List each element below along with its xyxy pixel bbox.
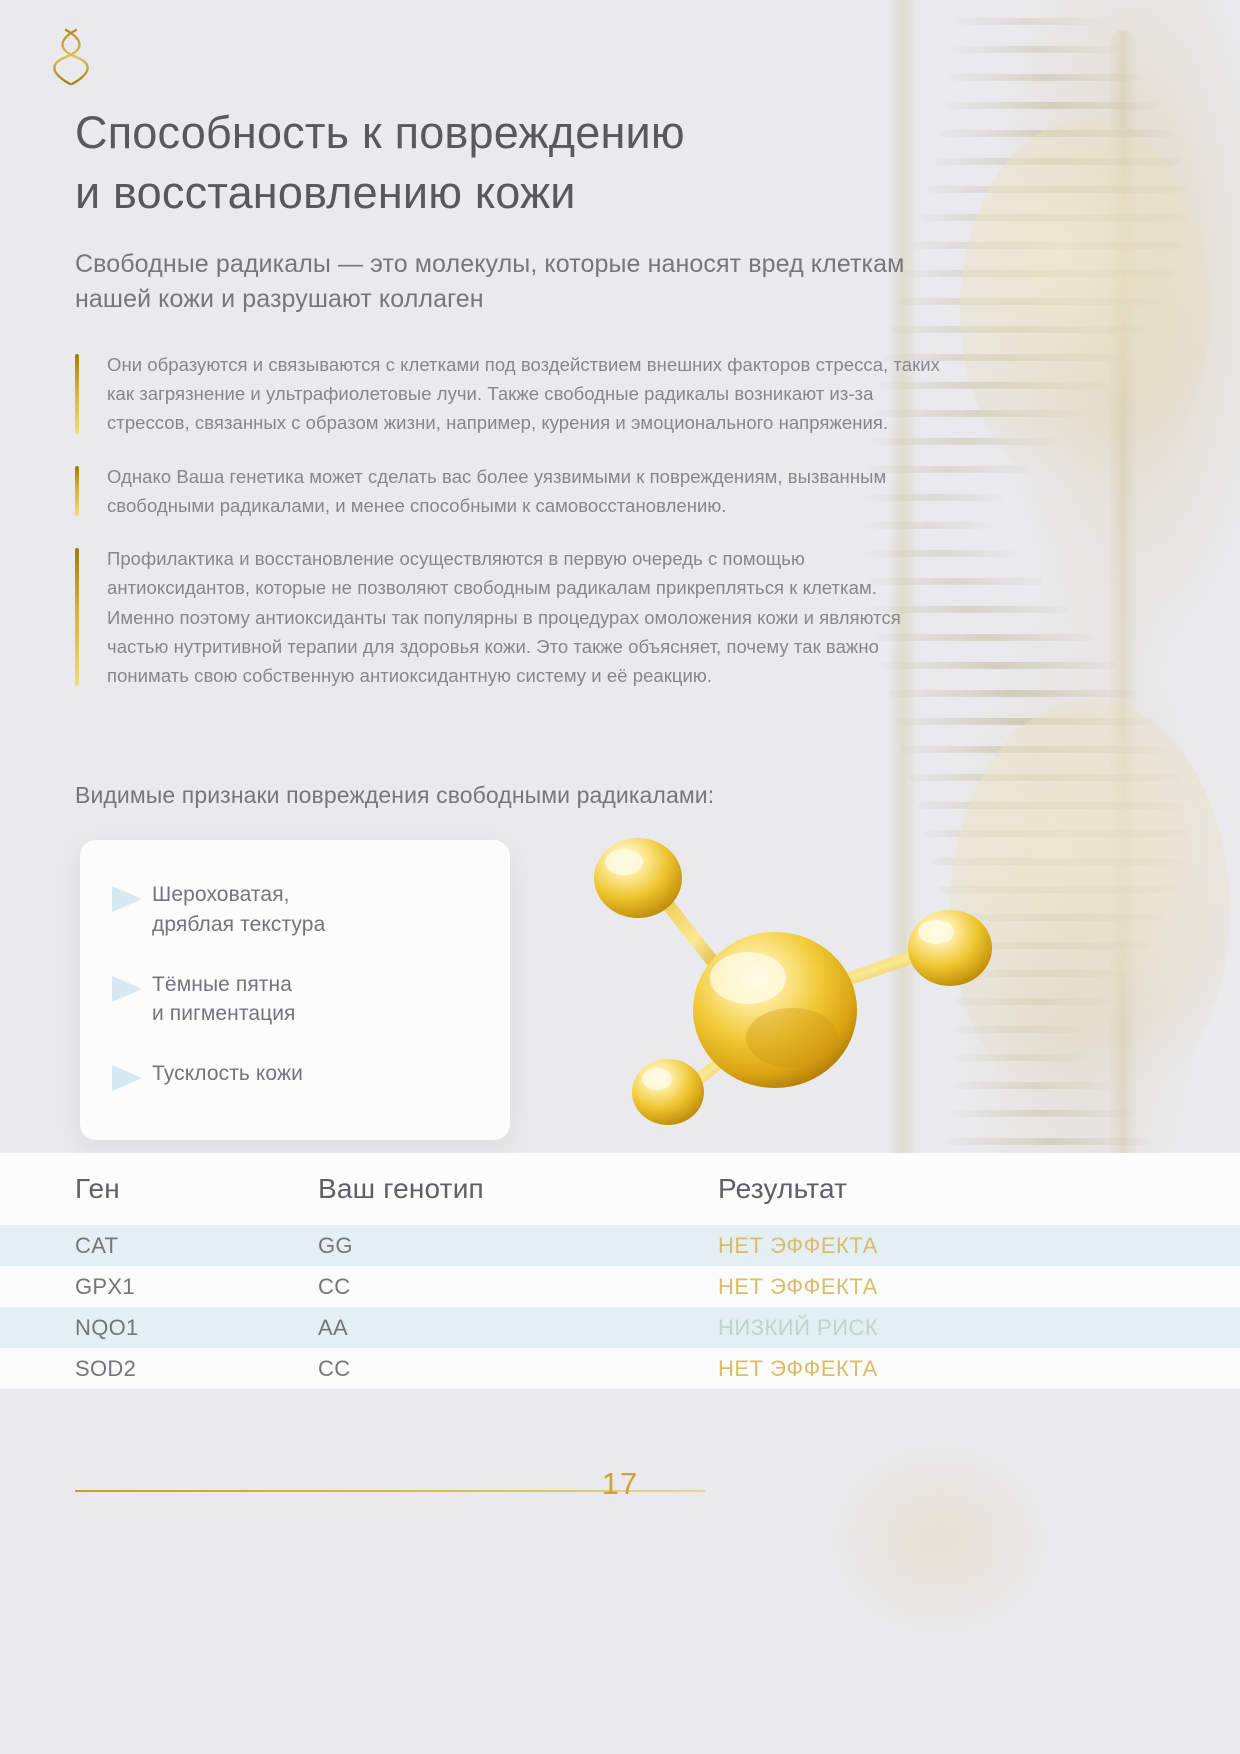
- page-number: 17: [0, 1466, 1240, 1502]
- page-subtitle: Свободные радикалы — это молекулы, котор…: [75, 247, 955, 317]
- report-page: Способность к повреждениюи восстановлени…: [0, 0, 1240, 1754]
- signs-heading: Видимые признаки повреждения свободными …: [75, 782, 975, 809]
- column-header-genotype: Ваш генотип: [318, 1173, 718, 1205]
- table-row: CATGGНЕТ ЭФФЕКТА: [0, 1225, 1240, 1266]
- paragraph-list: Они образуются и связываются с клетками …: [75, 350, 940, 714]
- paragraph-text: Однако Ваша генетика может сделать вас б…: [107, 462, 940, 520]
- list-item: Тёмные пятнаи пигментация: [110, 970, 480, 1030]
- cell-result: НЕТ ЭФФЕКТА: [718, 1356, 1240, 1382]
- triangle-right-icon: [110, 884, 152, 914]
- dna-rung: [909, 774, 1179, 781]
- gold-accent-bar: [75, 354, 79, 434]
- dna-rung: [952, 46, 1121, 53]
- paragraph-block: Однако Ваша генетика может сделать вас б…: [75, 462, 940, 520]
- dna-rung: [949, 74, 1141, 81]
- gold-accent-bar: [75, 548, 79, 686]
- cell-gene: NQO1: [0, 1315, 318, 1341]
- dna-rung: [940, 130, 1171, 137]
- sign-label: Тусклость кожи: [152, 1059, 303, 1089]
- cell-genotype: CC: [318, 1274, 718, 1300]
- column-header-result: Результат: [718, 1173, 1240, 1205]
- cell-gene: CAT: [0, 1233, 318, 1259]
- dna-edge: [1110, 30, 1136, 1290]
- dna-rung: [920, 214, 1186, 221]
- triangle-right-icon: [110, 1063, 152, 1093]
- table-row: SOD2CCНЕТ ЭФФЕКТА: [0, 1348, 1240, 1389]
- dna-rung: [891, 326, 1147, 333]
- dna-rung: [954, 18, 1099, 25]
- footer-glow: [760, 1420, 1120, 1690]
- sign-label: Шероховатая,дряблая текстура: [152, 880, 325, 940]
- table-header-row: Ген Ваш генотип Результат: [0, 1153, 1240, 1225]
- table-body: CATGGНЕТ ЭФФЕКТАGPX1CCНЕТ ЭФФЕКТАNQO1AAН…: [0, 1225, 1240, 1389]
- dna-rung: [894, 718, 1155, 725]
- table-row: NQO1AAНИЗКИЙ РИСК: [0, 1307, 1240, 1348]
- molecule-illustration: [560, 820, 1030, 1150]
- cell-result: НЕТ ЭФФЕКТА: [718, 1233, 1240, 1259]
- cell-genotype: GG: [318, 1233, 718, 1259]
- genotype-results-table: Ген Ваш генотип Результат CATGGНЕТ ЭФФЕК…: [0, 1153, 1240, 1389]
- cell-gene: SOD2: [0, 1356, 318, 1382]
- column-header-gene: Ген: [0, 1173, 318, 1205]
- dna-rung: [934, 158, 1181, 165]
- cell-genotype: CC: [318, 1356, 718, 1382]
- sign-label: Тёмные пятнаи пигментация: [152, 970, 296, 1030]
- table-row: GPX1CCНЕТ ЭФФЕКТА: [0, 1266, 1240, 1307]
- triangle-right-icon: [110, 974, 152, 1004]
- cell-gene: GPX1: [0, 1274, 318, 1300]
- gold-accent-bar: [75, 466, 79, 516]
- page-title: Способность к повреждениюи восстановлени…: [75, 103, 935, 223]
- paragraph-block: Профилактика и восстановление осуществля…: [75, 544, 940, 690]
- dna-rung: [927, 186, 1185, 193]
- dna-helix-logo: [46, 26, 94, 88]
- background-blob-1: [960, 120, 1210, 500]
- dna-rung: [945, 102, 1158, 109]
- dna-rung: [902, 746, 1169, 753]
- list-item: Шероховатая,дряблая текстура: [110, 880, 480, 940]
- visible-signs-card: Шероховатая,дряблая текстура Тёмные пятн…: [80, 840, 510, 1140]
- cell-result: НИЗКИЙ РИСК: [718, 1315, 1240, 1341]
- cell-genotype: AA: [318, 1315, 718, 1341]
- list-item: Тусклость кожи: [110, 1059, 480, 1093]
- paragraph-text: Профилактика и восстановление осуществля…: [107, 544, 940, 690]
- paragraph-text: Они образуются и связываются с клетками …: [107, 350, 940, 438]
- paragraph-block: Они образуются и связываются с клетками …: [75, 350, 940, 438]
- cell-result: НЕТ ЭФФЕКТА: [718, 1274, 1240, 1300]
